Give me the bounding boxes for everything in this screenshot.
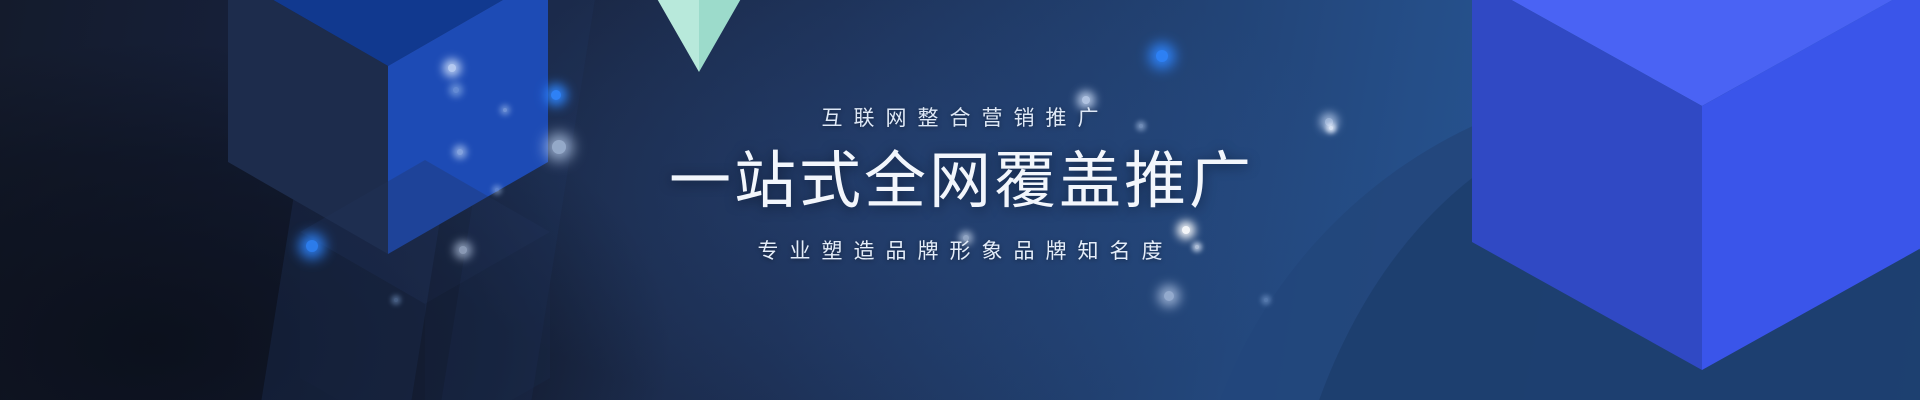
mint-diamond-icon <box>636 0 762 72</box>
banner-text-block: 互联网整合营销推广 一站式全网覆盖推广 专业塑造品牌形象品牌知名度 <box>0 108 1920 262</box>
tagline-bottom: 专业塑造品牌形象品牌知名度 <box>0 241 1920 262</box>
promo-banner: 互联网整合营销推广 一站式全网覆盖推广 专业塑造品牌形象品牌知名度 <box>0 0 1920 400</box>
headline: 一站式全网覆盖推广 <box>0 151 1920 213</box>
tagline-top: 互联网整合营销推广 <box>0 108 1920 129</box>
